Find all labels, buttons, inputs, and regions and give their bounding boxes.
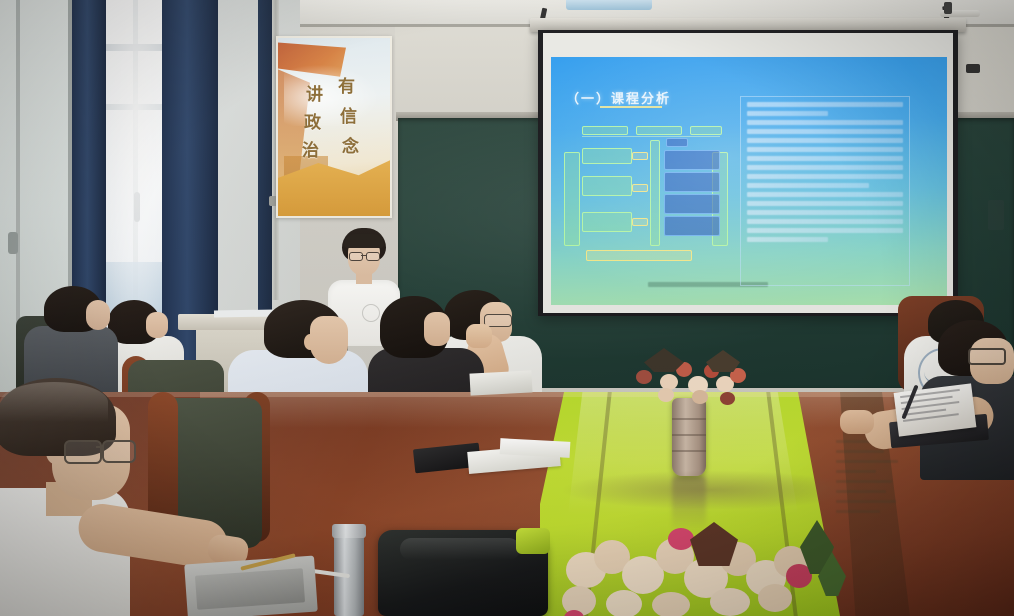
presenter-glasses-left [349,252,363,261]
vase-ring [672,450,706,452]
slide-title: （一）课程分析 [566,88,671,107]
wall-camera-icon [966,64,980,73]
poster-cloud [284,62,384,126]
meeting-room-photo: 讲 有 政 信 治 念 [0,0,1014,616]
camera-mount-joint [944,2,952,14]
attendee-front-left-glasses-left [64,440,102,464]
attendee-right-1-hand [840,410,874,434]
attendee-left-2-face [146,312,168,338]
poster-char-5: 念 [342,132,359,157]
attendee-front-left-glasses-bridge [96,446,104,448]
flower-arrangement-top [632,348,760,412]
documents[interactable] [469,370,532,395]
poster-char-1: 有 [338,72,355,97]
presenter-glasses-right [366,252,380,261]
ceiling-lamp [566,0,652,10]
attendee-front-left-hair-highlight [0,382,108,422]
attendee-right-1-glasses [968,348,1006,365]
bag-green-tag [516,528,550,554]
party-slogan-poster: 讲 有 政 信 治 念 [276,36,392,218]
attendee-left-1-face [86,300,110,330]
presenter-fringe [344,234,384,248]
partition-handle[interactable] [8,232,18,254]
thermos-cap[interactable] [332,524,366,538]
attendee-center-2-face [424,312,450,346]
wall-speaker [988,200,1004,230]
attendee-front-left-glasses-right [102,440,136,463]
poster-char-0: 讲 [306,80,323,105]
slide-title-underline [600,106,662,108]
vase-ring [672,418,706,420]
poster-char-2: 政 [304,108,321,133]
curtain-right[interactable] [258,0,272,330]
poster-char-4: 治 [302,136,319,161]
bag-highlight [400,538,520,560]
flower-arrangement-front [560,500,860,616]
presenter-glasses-bridge [361,255,366,256]
poster-char-3: 信 [340,102,357,127]
vase-ring [672,434,706,436]
attendee-center-1-face [310,316,348,364]
